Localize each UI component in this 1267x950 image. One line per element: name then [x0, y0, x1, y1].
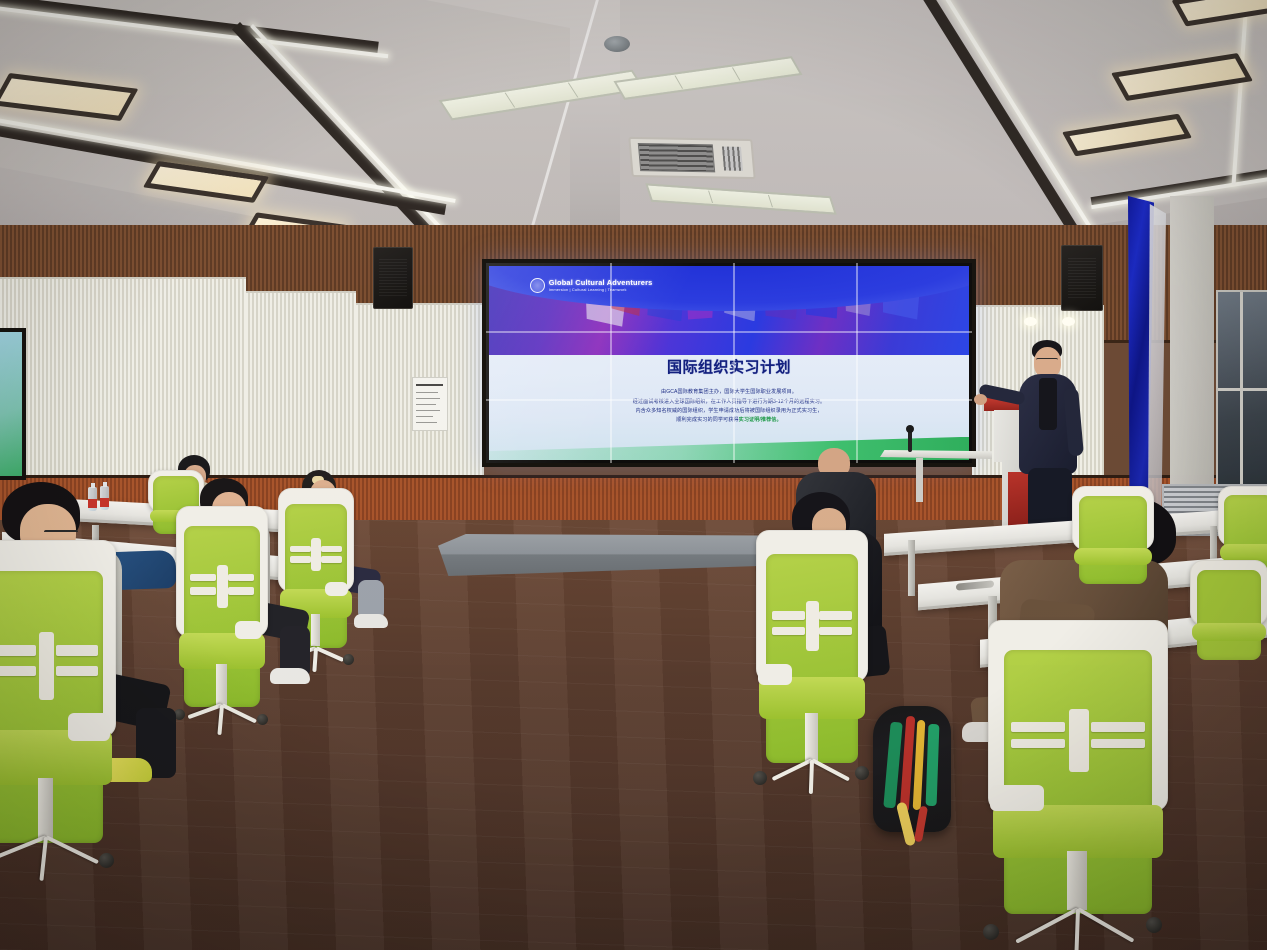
chair-lumbar-support — [217, 565, 227, 608]
chair-slat — [56, 666, 98, 676]
presenter-hand-left — [974, 394, 987, 405]
videowall-bezel-h1 — [486, 331, 972, 333]
chair-slat — [772, 627, 806, 635]
videowall-bezel-v3 — [856, 263, 858, 463]
chair-gas-post — [311, 614, 319, 646]
chair-caster — [983, 924, 999, 940]
window-mullion-h — [1218, 388, 1267, 391]
chair-spoke — [1015, 907, 1079, 943]
chair-slat — [190, 574, 217, 581]
notice-line — [416, 410, 440, 411]
backpack-stripe-green-2 — [926, 724, 940, 806]
wall-spot-2 — [1062, 317, 1075, 326]
chair-right-front — [988, 620, 1168, 950]
chair-slat — [321, 556, 342, 562]
chair-slat — [0, 645, 36, 655]
chair-slat — [190, 587, 217, 594]
chair-lumbar-support — [806, 601, 818, 651]
chair-spoke — [315, 646, 344, 662]
chair-caster — [257, 714, 268, 725]
notice-sheet — [412, 377, 448, 431]
notice-line — [416, 398, 440, 399]
chair-base — [182, 700, 263, 720]
chair-caster — [99, 853, 114, 868]
chair-empty-right-3 — [1190, 560, 1267, 672]
chair-spoke — [187, 703, 222, 719]
chair-caster — [343, 654, 354, 665]
chair-spoke — [1074, 909, 1080, 950]
chair-mesh-panel — [1079, 496, 1146, 584]
chair-left-mid — [176, 506, 268, 732]
notice-line — [416, 384, 443, 386]
side-monitor-left — [0, 328, 26, 480]
ac-vent-side-louver — [722, 146, 743, 171]
chair-spoke — [811, 759, 850, 782]
videowall-bezel-v1 — [610, 263, 612, 463]
chair-lumbar-support — [39, 632, 54, 700]
gca-seal-icon — [530, 278, 545, 293]
chair-slat — [1011, 722, 1065, 731]
chair-base — [999, 904, 1157, 934]
chair-base — [0, 832, 108, 863]
chair-slat — [1091, 739, 1145, 748]
ac-vent-grill — [638, 143, 715, 172]
chair-gas-post — [805, 713, 817, 760]
gca-logo-name: Global Cultural Adventurers — [549, 279, 653, 286]
student-shoe — [270, 668, 310, 684]
gca-logo: Global Cultural Adventurers Immersion | … — [530, 278, 653, 293]
chair-gas-post — [38, 778, 53, 839]
chair-armrest — [758, 664, 792, 685]
chair-armrest — [325, 582, 348, 596]
chair-slat — [819, 611, 853, 619]
window-right — [1216, 290, 1267, 502]
chair-slat — [56, 645, 98, 655]
chair-empty-right-1 — [1072, 486, 1154, 596]
ceiling-ac-vent — [628, 137, 755, 179]
slide-body-line-last: 顺利完成实习的同学可获得实习证明/推荐信。 — [527, 416, 930, 425]
chair-gas-post — [1067, 851, 1087, 910]
smoke-detector-icon — [604, 36, 630, 52]
chair-slat — [228, 587, 255, 594]
chair-spoke — [0, 836, 47, 860]
wall-speaker-right — [1061, 245, 1103, 311]
backpack-on-floor — [873, 706, 951, 832]
chair-spoke — [45, 836, 99, 865]
wall-pilaster-right — [1170, 196, 1214, 526]
wall-slat-panel-left2 — [246, 291, 356, 499]
chair-slat — [290, 546, 311, 552]
presenter-glasses-icon — [1036, 358, 1058, 363]
table-leg — [908, 540, 915, 596]
window-mullion-v — [1240, 292, 1243, 500]
chair-slat — [321, 546, 342, 552]
chair-seat — [1192, 623, 1265, 641]
chair-armrest — [990, 785, 1044, 811]
speaker-table-leg — [916, 458, 923, 502]
chair-caster — [753, 771, 767, 785]
slide-body-highlight: 实习证明/推荐信。 — [739, 417, 782, 423]
chair-spoke — [217, 705, 224, 735]
lcd-video-wall[interactable]: Global Cultural Adventurers Immersion | … — [482, 259, 976, 467]
notice-line — [416, 416, 434, 417]
lecture-room-photo: Global Cultural Adventurers Immersion | … — [0, 0, 1267, 950]
student-glasses-icon — [44, 530, 78, 535]
chair-spoke — [1077, 907, 1134, 942]
chair-armrest — [235, 621, 263, 639]
microphone-icon — [908, 430, 912, 452]
chair-spoke — [39, 837, 48, 881]
notice-line — [416, 392, 438, 393]
chair-caster — [855, 766, 869, 780]
wall-speaker-left — [373, 247, 413, 309]
chair-right-mid — [756, 530, 868, 792]
chair-slat — [819, 627, 853, 635]
chair-seat — [1074, 548, 1151, 566]
slide-body-line: 内含众多知名权威的国际组织，学生申请成功后将被国际组织录用为正式实习生， — [527, 407, 930, 416]
gca-logo-text: Global Cultural Adventurers Immersion | … — [549, 279, 653, 292]
slide-body-text: 由GCA国际教育集团主办，国际大学生国际职业发展项目。 经过面试考核进入全球国际… — [527, 388, 930, 426]
wall-spot-1 — [1024, 317, 1037, 326]
chair-slat — [772, 611, 806, 619]
slide-flag-banner: Global Cultural Adventurers Immersion | … — [489, 266, 969, 355]
chair-spoke — [221, 704, 257, 724]
chair-mesh-panel — [1197, 570, 1261, 660]
backpack-stripe-yellow — [913, 720, 926, 810]
chair-left-front — [0, 540, 116, 880]
gca-logo-tagline: Immersion | Cultural Learning | Teamwork — [549, 288, 653, 292]
chair-spoke — [809, 760, 814, 794]
student-shoe — [354, 614, 388, 628]
chair-slat — [1091, 722, 1145, 731]
chair-seat — [993, 805, 1162, 858]
chair-lumbar-support — [1069, 709, 1089, 772]
chair-base — [763, 755, 862, 779]
notice-line — [416, 422, 438, 423]
chair-slat — [290, 556, 311, 562]
chair-slat — [228, 574, 255, 581]
slide-title: 国际组织实习计划 — [489, 356, 969, 377]
chair-gas-post — [216, 664, 226, 705]
videowall-bezel-v2 — [733, 263, 735, 463]
chair-slat — [1011, 739, 1065, 748]
chair-lumbar-support — [311, 538, 320, 570]
notice-line — [416, 404, 436, 405]
presentation-slide: Global Cultural Adventurers Immersion | … — [489, 266, 969, 460]
chair-armrest — [68, 713, 110, 740]
chair-spoke — [772, 759, 813, 782]
presenter-shirt — [1039, 378, 1057, 430]
chair-caster — [1146, 917, 1162, 933]
slide-body-line-tail: 顺利完成实习的同学可获得 — [676, 417, 738, 423]
slide-body-line: 由GCA国际教育集团主办，国际大学生国际职业发展项目。 — [527, 388, 930, 397]
chair-slat — [0, 666, 36, 676]
videowall-bezel-h2 — [486, 399, 972, 401]
chair-seat — [1220, 544, 1267, 561]
